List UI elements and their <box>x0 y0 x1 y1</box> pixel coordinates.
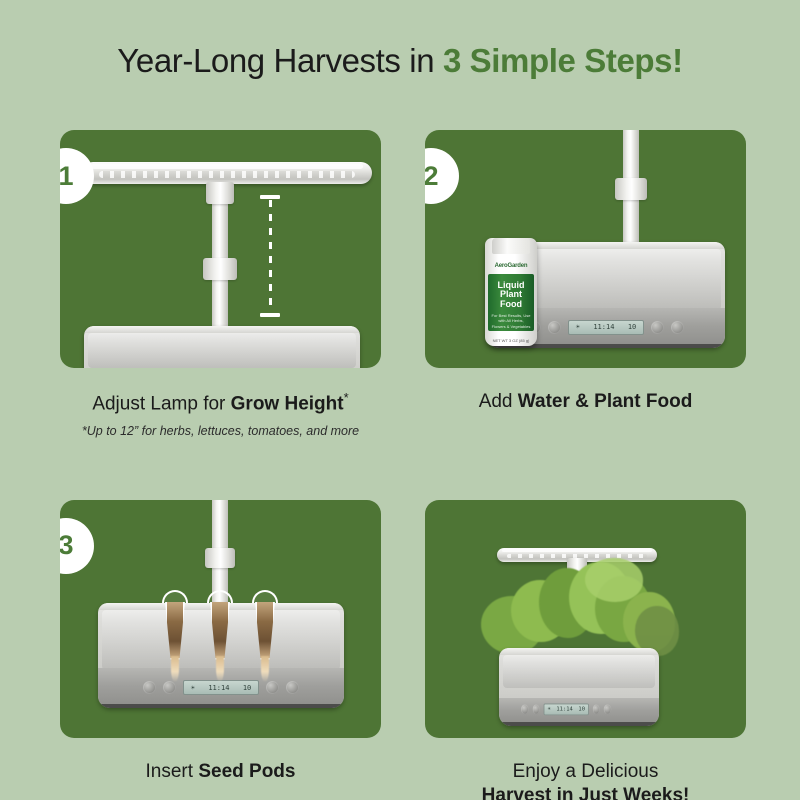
pod-root <box>171 656 179 682</box>
control-panel[interactable]: ☀ 11:14 10 <box>521 318 691 336</box>
bowl-body <box>88 333 356 368</box>
step-cell-3: 3 ☀ <box>60 500 381 800</box>
measure-cap-top <box>260 195 280 199</box>
caption-strong-1: Grow Height <box>231 393 344 414</box>
led-lamp-hood <box>82 162 372 184</box>
pod-root <box>216 656 224 682</box>
step-cell-2: 2 <box>425 130 746 438</box>
steps-row-1: 1 <box>60 130 746 438</box>
lcd-right: 10 <box>243 684 251 692</box>
lcd-left: ☀ <box>548 706 551 712</box>
pod-dome <box>252 590 278 603</box>
caption-strong-3: Seed Pods <box>198 761 295 782</box>
caption-strong-4: Harvest in Just Weeks! <box>482 785 690 800</box>
pole-height-collar <box>203 258 237 280</box>
step-panel-1[interactable]: 1 <box>60 130 381 368</box>
pod-dome <box>162 590 188 603</box>
step-caption-2: Add Water & Plant Food <box>425 390 746 414</box>
caption-lead-2: Add <box>479 391 518 412</box>
control-panel[interactable]: ☀ 11:14 10 <box>521 703 611 714</box>
control-button-menu[interactable] <box>671 321 684 334</box>
caption-lead-1: Adjust Lamp for <box>92 393 230 414</box>
control-button-menu[interactable] <box>604 704 612 714</box>
control-button-power[interactable] <box>521 704 529 714</box>
step-cell-4: ☀ 11:14 10 Enjoy a Delicious Harvest in … <box>425 500 746 800</box>
pole-height-collar <box>615 178 647 200</box>
headline-emphasis: 3 Simple Steps! <box>443 42 683 79</box>
control-button-up[interactable] <box>163 681 176 694</box>
bottle-title-line2: Plant Food <box>488 290 534 309</box>
steps-grid: 1 <box>60 130 746 800</box>
measure-dashed-line <box>269 200 272 312</box>
caption-lead-4: Enjoy a Delicious <box>425 760 746 784</box>
step-panel-4[interactable]: ☀ 11:14 10 <box>425 500 746 738</box>
measure-cap-bottom <box>260 313 280 317</box>
pod-dome <box>207 590 233 603</box>
garden-base-bowl <box>84 326 360 368</box>
bottle-brand: AeroGarden <box>485 263 537 269</box>
control-lcd-display: ☀ 11:14 10 <box>183 680 259 695</box>
step-caption-4: Enjoy a Delicious Harvest in Just Weeks! <box>425 760 746 800</box>
caption-lead-3: Insert <box>146 761 199 782</box>
artwork-plant-food: ☀ 11:14 10 AeroGarden L <box>425 130 746 368</box>
lcd-right: 10 <box>628 323 636 331</box>
pole-height-collar <box>205 548 235 568</box>
step-caption-3: Insert Seed Pods <box>60 760 381 784</box>
leaf-cluster-dill <box>585 558 643 602</box>
page-title: Year-Long Harvests in 3 Simple Steps! <box>0 42 800 80</box>
lcd-left: ☀ <box>191 684 195 692</box>
liquid-plant-food-bottle: AeroGarden Liquid Plant Food For Best Re… <box>485 238 537 346</box>
caption-superscript-1: * <box>344 390 349 405</box>
steps-row-2: 3 ☀ <box>60 500 746 800</box>
lcd-left: ☀ <box>576 323 580 331</box>
lcd-center: 11:14 <box>593 323 614 331</box>
bowl-rim <box>499 648 659 655</box>
control-button-menu[interactable] <box>286 681 299 694</box>
control-button-down[interactable] <box>266 681 279 694</box>
bowl-body <box>503 655 655 688</box>
step-panel-2[interactable]: 2 <box>425 130 746 368</box>
artwork-seed-pods: ☀ 11:14 10 <box>60 500 381 738</box>
control-button-power[interactable] <box>143 681 156 694</box>
bottle-cap <box>492 238 529 254</box>
pod-root <box>261 656 269 682</box>
bottle-subtitle: For Best Results, Use with All Herbs, Fl… <box>488 313 534 329</box>
control-button-down[interactable] <box>651 321 664 334</box>
control-button-down[interactable] <box>592 704 600 714</box>
plant-foliage <box>477 562 677 660</box>
step-subcaption-1: *Up to 12” for herbs, lettuces, tomatoes… <box>60 424 381 438</box>
control-button-up[interactable] <box>532 704 540 714</box>
control-lcd-display: ☀ 11:14 10 <box>568 320 644 335</box>
lcd-right: 10 <box>578 706 585 712</box>
grow-height-measure-icon <box>258 195 282 317</box>
control-lcd-display: ☀ 11:14 10 <box>544 703 589 715</box>
lcd-center: 11:14 <box>208 684 229 692</box>
step-cell-1: 1 <box>60 130 381 438</box>
bottle-net-weight: NET WT 3 OZ (85 g) <box>485 338 537 343</box>
artwork-grow-light <box>60 130 381 368</box>
step-panel-3[interactable]: 3 ☀ <box>60 500 381 738</box>
step-caption-1: Adjust Lamp for Grow Height* <box>60 390 381 417</box>
promo-infographic: Year-Long Harvests in 3 Simple Steps! 1 <box>0 0 800 800</box>
artwork-mature-garden: ☀ 11:14 10 <box>425 500 746 738</box>
lcd-center: 11:14 <box>556 706 572 712</box>
bowl-rim <box>84 326 360 333</box>
bottle-label: Liquid Plant Food For Best Results, Use … <box>488 274 534 331</box>
pole-top-collar <box>206 182 234 204</box>
control-button-up[interactable] <box>548 321 561 334</box>
caption-strong-2: Water & Plant Food <box>518 391 693 412</box>
headline-lead: Year-Long Harvests in <box>117 42 443 79</box>
